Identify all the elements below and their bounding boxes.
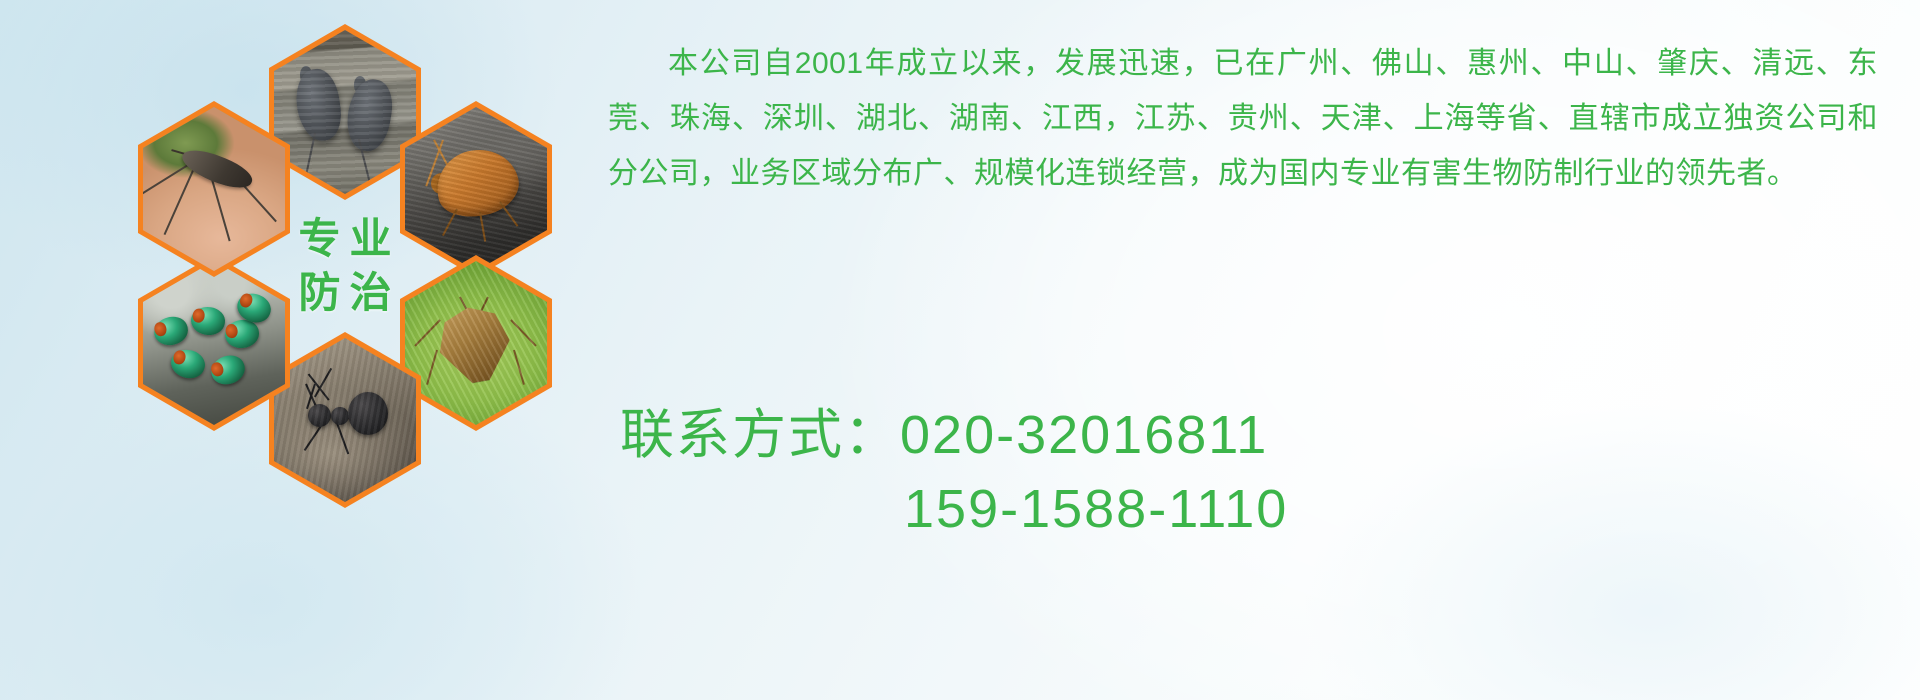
contact-line-primary[interactable]: 联系方式：020-32016811 bbox=[620, 398, 1820, 472]
cockroach-photo-icon bbox=[405, 107, 547, 271]
hex-cell-rats bbox=[269, 24, 421, 200]
mosquito-photo-icon bbox=[143, 107, 285, 271]
stinkbug-photo-icon bbox=[405, 261, 547, 425]
hex-cell-stinkbug bbox=[400, 255, 552, 431]
ant-photo-icon bbox=[274, 338, 416, 502]
contact-line-secondary[interactable]: 159-1588-1110 bbox=[620, 472, 1820, 546]
company-intro-paragraph: 本公司自2001年成立以来，发展迅速，已在广州、佛山、惠州、中山、肇庆、清远、东… bbox=[608, 36, 1878, 201]
contact-block: 联系方式：020-32016811 159-1588-1110 bbox=[620, 398, 1820, 546]
rats-photo-icon bbox=[274, 30, 416, 194]
hex-cell-mosquito bbox=[138, 101, 290, 277]
company-intro-block: 本公司自2001年成立以来，发展迅速，已在广州、佛山、惠州、中山、肇庆、清远、东… bbox=[608, 36, 1878, 201]
flies-photo-icon bbox=[143, 261, 285, 425]
slogan-line-2: 防治 bbox=[289, 272, 400, 314]
honeycomb-collage: 专业 防治 bbox=[95, 8, 595, 568]
slogan-line-1: 专业 bbox=[289, 218, 400, 260]
hex-cell-cockroach bbox=[400, 101, 552, 277]
hex-cell-center-label: 专业 防治 bbox=[269, 178, 421, 354]
promo-banner: 专业 防治 本公司自2001年成立以来，发展迅速，已在广州、佛山、惠州、中山、肇… bbox=[0, 0, 1920, 700]
hex-cell-flies bbox=[138, 255, 290, 431]
hex-cell-ant bbox=[269, 332, 421, 508]
